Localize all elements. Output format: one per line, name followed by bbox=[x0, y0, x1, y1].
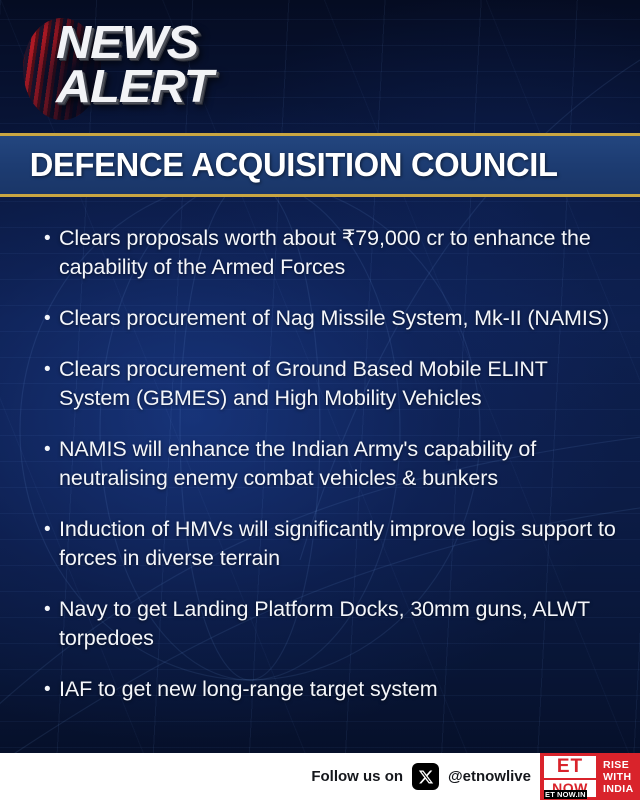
etnow-website-suffix: NOW.IN bbox=[556, 790, 587, 799]
list-item-text: Clears proposals worth about ₹79,000 cr … bbox=[59, 224, 618, 282]
etnow-logo: ET NOW ETNOW.IN RISE WITH INDIA bbox=[540, 753, 640, 800]
bullet-marker: • bbox=[44, 675, 59, 704]
bullet-marker: • bbox=[44, 435, 59, 493]
news-alert-card: NEWS ALERT DEFENCE ACQUISITION COUNCIL •… bbox=[0, 0, 640, 800]
list-item-text: NAMIS will enhance the Indian Army's cap… bbox=[59, 435, 618, 493]
bullet-marker: • bbox=[44, 304, 59, 333]
logo-line-alert: ALERT bbox=[56, 64, 212, 108]
list-item-text: Induction of HMVs will significantly imp… bbox=[59, 515, 618, 573]
footer-bar: Follow us on @etnowlive ET NOW ETNOW.IN … bbox=[0, 753, 640, 800]
bullet-list: • Clears proposals worth about ₹79,000 c… bbox=[0, 206, 640, 746]
list-item: • Clears procurement of Nag Missile Syst… bbox=[44, 304, 618, 333]
list-item: • Induction of HMVs will significantly i… bbox=[44, 515, 618, 573]
tagline-line-1: RISE bbox=[603, 759, 634, 771]
news-alert-text: NEWS ALERT bbox=[56, 20, 212, 108]
list-item: • Clears proposals worth about ₹79,000 c… bbox=[44, 224, 618, 282]
follow-us-label: Follow us on bbox=[311, 768, 403, 785]
etnow-et-mark: ET bbox=[544, 756, 596, 778]
list-item-text: Navy to get Landing Platform Docks, 30mm… bbox=[59, 595, 618, 653]
etnow-website-prefix: ET bbox=[544, 790, 556, 799]
headline-bar: DEFENCE ACQUISITION COUNCIL bbox=[0, 133, 640, 197]
follow-us-group: Follow us on @etnowlive bbox=[311, 763, 531, 790]
x-twitter-icon[interactable] bbox=[412, 763, 439, 790]
list-item: • IAF to get new long-range target syste… bbox=[44, 675, 618, 704]
news-alert-logo: NEWS ALERT bbox=[0, 0, 640, 133]
social-handle[interactable]: @etnowlive bbox=[448, 768, 531, 785]
tagline-line-3: INDIA bbox=[603, 783, 634, 795]
list-item-text: Clears procurement of Ground Based Mobil… bbox=[59, 355, 618, 413]
bullet-marker: • bbox=[44, 515, 59, 573]
bullet-marker: • bbox=[44, 224, 59, 282]
list-item: • NAMIS will enhance the Indian Army's c… bbox=[44, 435, 618, 493]
list-item-text: Clears procurement of Nag Missile System… bbox=[59, 304, 618, 333]
etnow-tagline: RISE WITH INDIA bbox=[603, 759, 634, 795]
etnow-website: ETNOW.IN bbox=[544, 790, 596, 799]
bullet-marker: • bbox=[44, 355, 59, 413]
tagline-line-2: WITH bbox=[603, 771, 634, 783]
list-item: • Clears procurement of Ground Based Mob… bbox=[44, 355, 618, 413]
page-title: DEFENCE ACQUISITION COUNCIL bbox=[0, 146, 558, 184]
list-item-text: IAF to get new long-range target system bbox=[59, 675, 618, 704]
bullet-marker: • bbox=[44, 595, 59, 653]
list-item: • Navy to get Landing Platform Docks, 30… bbox=[44, 595, 618, 653]
